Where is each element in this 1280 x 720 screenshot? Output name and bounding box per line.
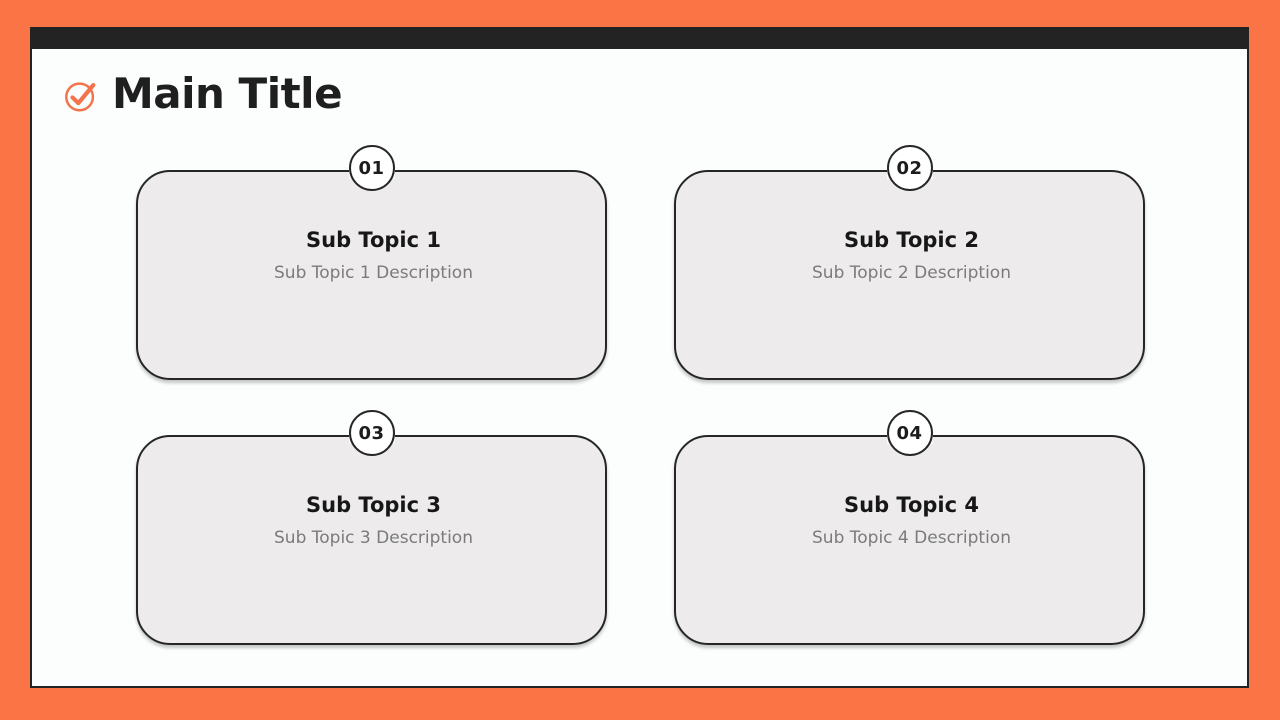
- topic-card-02[interactable]: Sub Topic 2 Sub Topic 2 Description 02: [674, 170, 1145, 380]
- topic-card-04[interactable]: Sub Topic 4 Sub Topic 4 Description 04: [674, 435, 1145, 645]
- card-body: Sub Topic 4 Sub Topic 4 Description: [674, 435, 1145, 645]
- slide-top-bar: [30, 27, 1249, 49]
- card-title: Sub Topic 1: [138, 228, 609, 253]
- page-title: Main Title: [112, 73, 342, 115]
- card-description: Sub Topic 1 Description: [138, 263, 609, 283]
- card-title: Sub Topic 4: [676, 493, 1147, 518]
- card-body: Sub Topic 3 Sub Topic 3 Description: [136, 435, 607, 645]
- slide-header: Main Title: [32, 49, 342, 139]
- topic-card-01[interactable]: Sub Topic 1 Sub Topic 1 Description 01: [136, 170, 607, 380]
- card-body: Sub Topic 1 Sub Topic 1 Description: [136, 170, 607, 380]
- card-title: Sub Topic 2: [676, 228, 1147, 253]
- card-number-badge: 04: [887, 410, 933, 456]
- card-title: Sub Topic 3: [138, 493, 609, 518]
- card-number-badge: 02: [887, 145, 933, 191]
- card-description: Sub Topic 2 Description: [676, 263, 1147, 283]
- card-number-badge: 03: [349, 410, 395, 456]
- card-description: Sub Topic 4 Description: [676, 528, 1147, 548]
- card-number-badge: 01: [349, 145, 395, 191]
- card-description: Sub Topic 3 Description: [138, 528, 609, 548]
- topic-card-03[interactable]: Sub Topic 3 Sub Topic 3 Description 03: [136, 435, 607, 645]
- check-circle-icon: [62, 77, 100, 115]
- card-body: Sub Topic 2 Sub Topic 2 Description: [674, 170, 1145, 380]
